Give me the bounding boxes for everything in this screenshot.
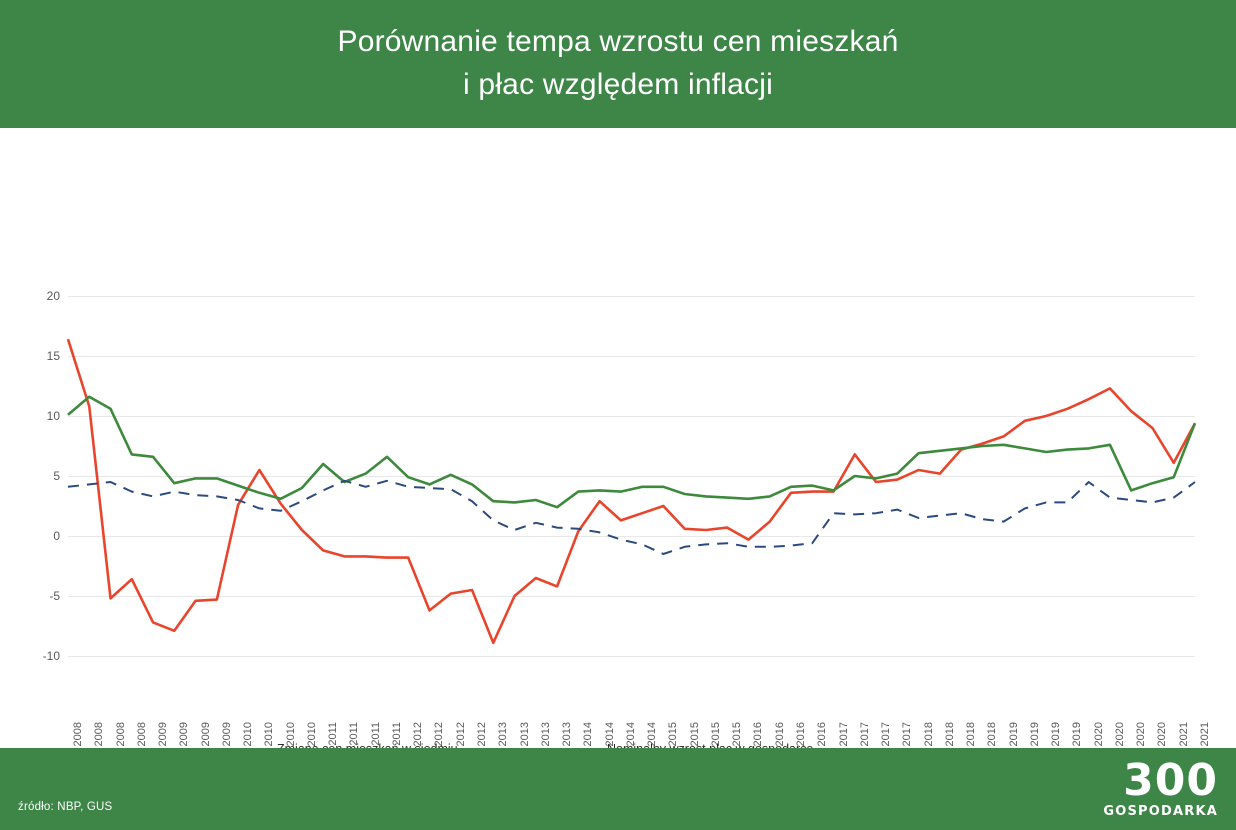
gridline — [68, 656, 1195, 657]
page-title: Porównanie tempa wzrostu cen mieszkań i … — [338, 21, 899, 106]
series-line-1 — [68, 397, 1195, 507]
series-lines — [68, 296, 1195, 656]
header-banner: Porównanie tempa wzrostu cen mieszkań i … — [0, 0, 1236, 128]
y-axis-tick-label: 10 — [0, 409, 60, 423]
page-title-line2: i płac względem inflacji — [338, 64, 899, 107]
series-line-0 — [68, 339, 1195, 643]
y-axis-tick-label: 20 — [0, 289, 60, 303]
logo-sub-text: GOSPODARKA — [1103, 804, 1218, 819]
brand-logo: 300 GOSPODARKA — [1103, 760, 1218, 819]
footer-banner: źródło: NBP, GUS 300 GOSPODARKA — [0, 748, 1236, 830]
y-axis-tick-label: 15 — [0, 349, 60, 363]
logo-main-text: 300 — [1103, 760, 1218, 802]
source-text: źródło: NBP, GUS — [18, 801, 112, 813]
x-axis-labels: I 2008II 2008III 2008IV 2008I 2009II 200… — [68, 660, 1195, 730]
plot-region — [68, 296, 1195, 656]
chart-area: -10-505101520 I 2008II 2008III 2008IV 20… — [0, 128, 1236, 730]
y-axis-tick-label: -5 — [0, 589, 60, 603]
y-axis-tick-label: -10 — [0, 649, 60, 663]
y-axis-tick-label: 0 — [0, 529, 60, 543]
page-title-line1: Porównanie tempa wzrostu cen mieszkań — [338, 21, 899, 64]
y-axis-tick-label: 5 — [0, 469, 60, 483]
